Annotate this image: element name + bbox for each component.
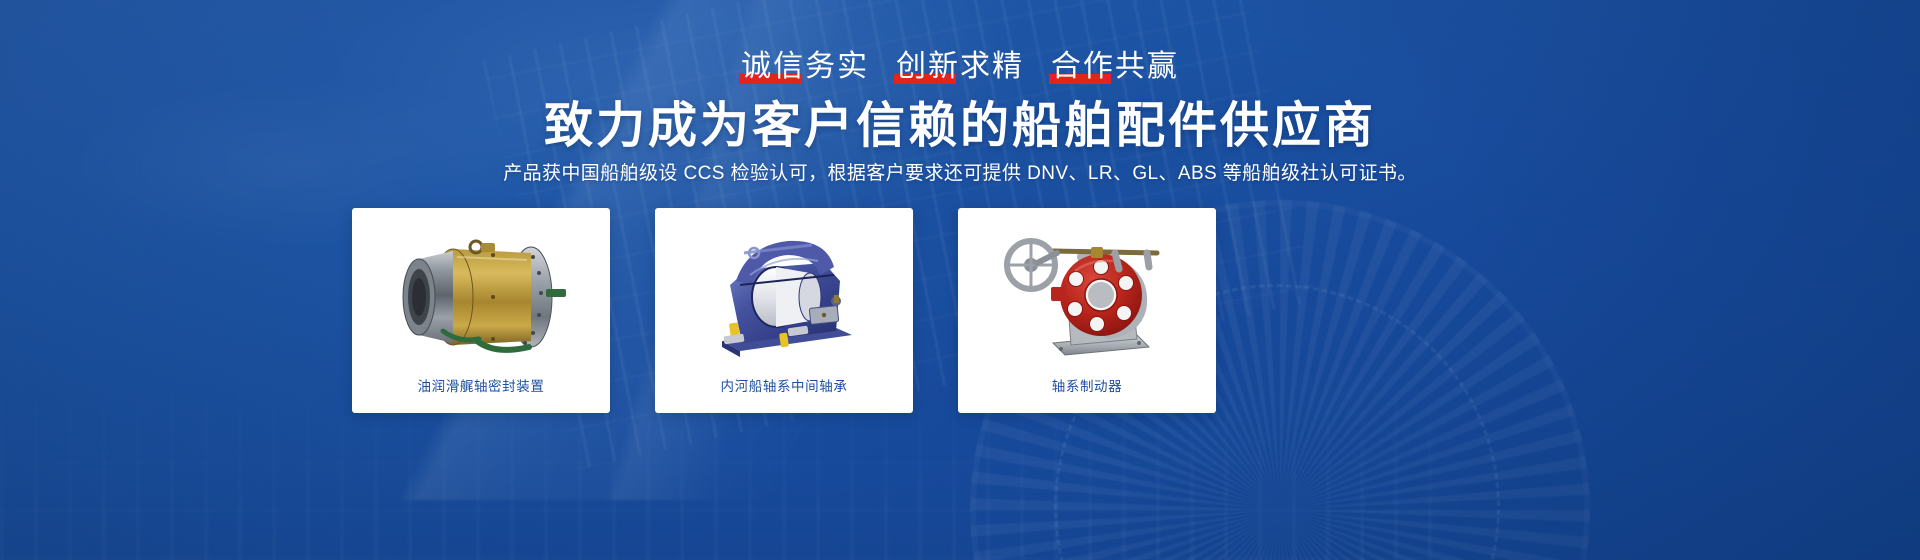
slogan-text-2: 创新求精 (896, 50, 1024, 83)
product-card-list: 油润滑艉轴密封装置 (352, 208, 1216, 413)
slogan-group-1: 诚信务实 (741, 48, 869, 86)
product-card[interactable]: 内河船轴系中间轴承 (655, 208, 913, 413)
banner-slogan: 诚信务实 创新求精 合作共赢 (0, 48, 1920, 86)
banner-subtitle: 产品获中国船舶级设 CCS 检验认可，根据客户要求还可提供 DNV、LR、GL、… (0, 160, 1920, 188)
slogan-text-1: 诚信务实 (741, 50, 869, 83)
hero-banner: 诚信务实 创新求精 合作共赢 致力成为客户信赖的船舶配件供应商 产品获中国船舶级… (0, 0, 1920, 560)
product-card[interactable]: 轴系制动器 (958, 208, 1216, 413)
slogan-text-3: 合作共赢 (1051, 50, 1179, 83)
slogan-group-2: 创新求精 (896, 48, 1024, 86)
banner-content: 诚信务实 创新求精 合作共赢 致力成为客户信赖的船舶配件供应商 产品获中国船舶级… (0, 0, 1920, 560)
banner-headline: 致力成为客户信赖的船舶配件供应商 (0, 96, 1920, 156)
product-card[interactable]: 油润滑艉轴密封装置 (352, 208, 610, 413)
product-card-caption: 内河船轴系中间轴承 (721, 378, 848, 396)
shaft-brake-photo (974, 218, 1200, 368)
slogan-group-3: 合作共赢 (1051, 48, 1179, 86)
oil-lubricated-stern-shaft-seal-photo (368, 218, 594, 368)
product-card-caption: 油润滑艉轴密封装置 (418, 378, 545, 396)
product-card-caption: 轴系制动器 (1052, 378, 1123, 396)
inland-vessel-intermediate-bearing-photo (671, 218, 897, 368)
